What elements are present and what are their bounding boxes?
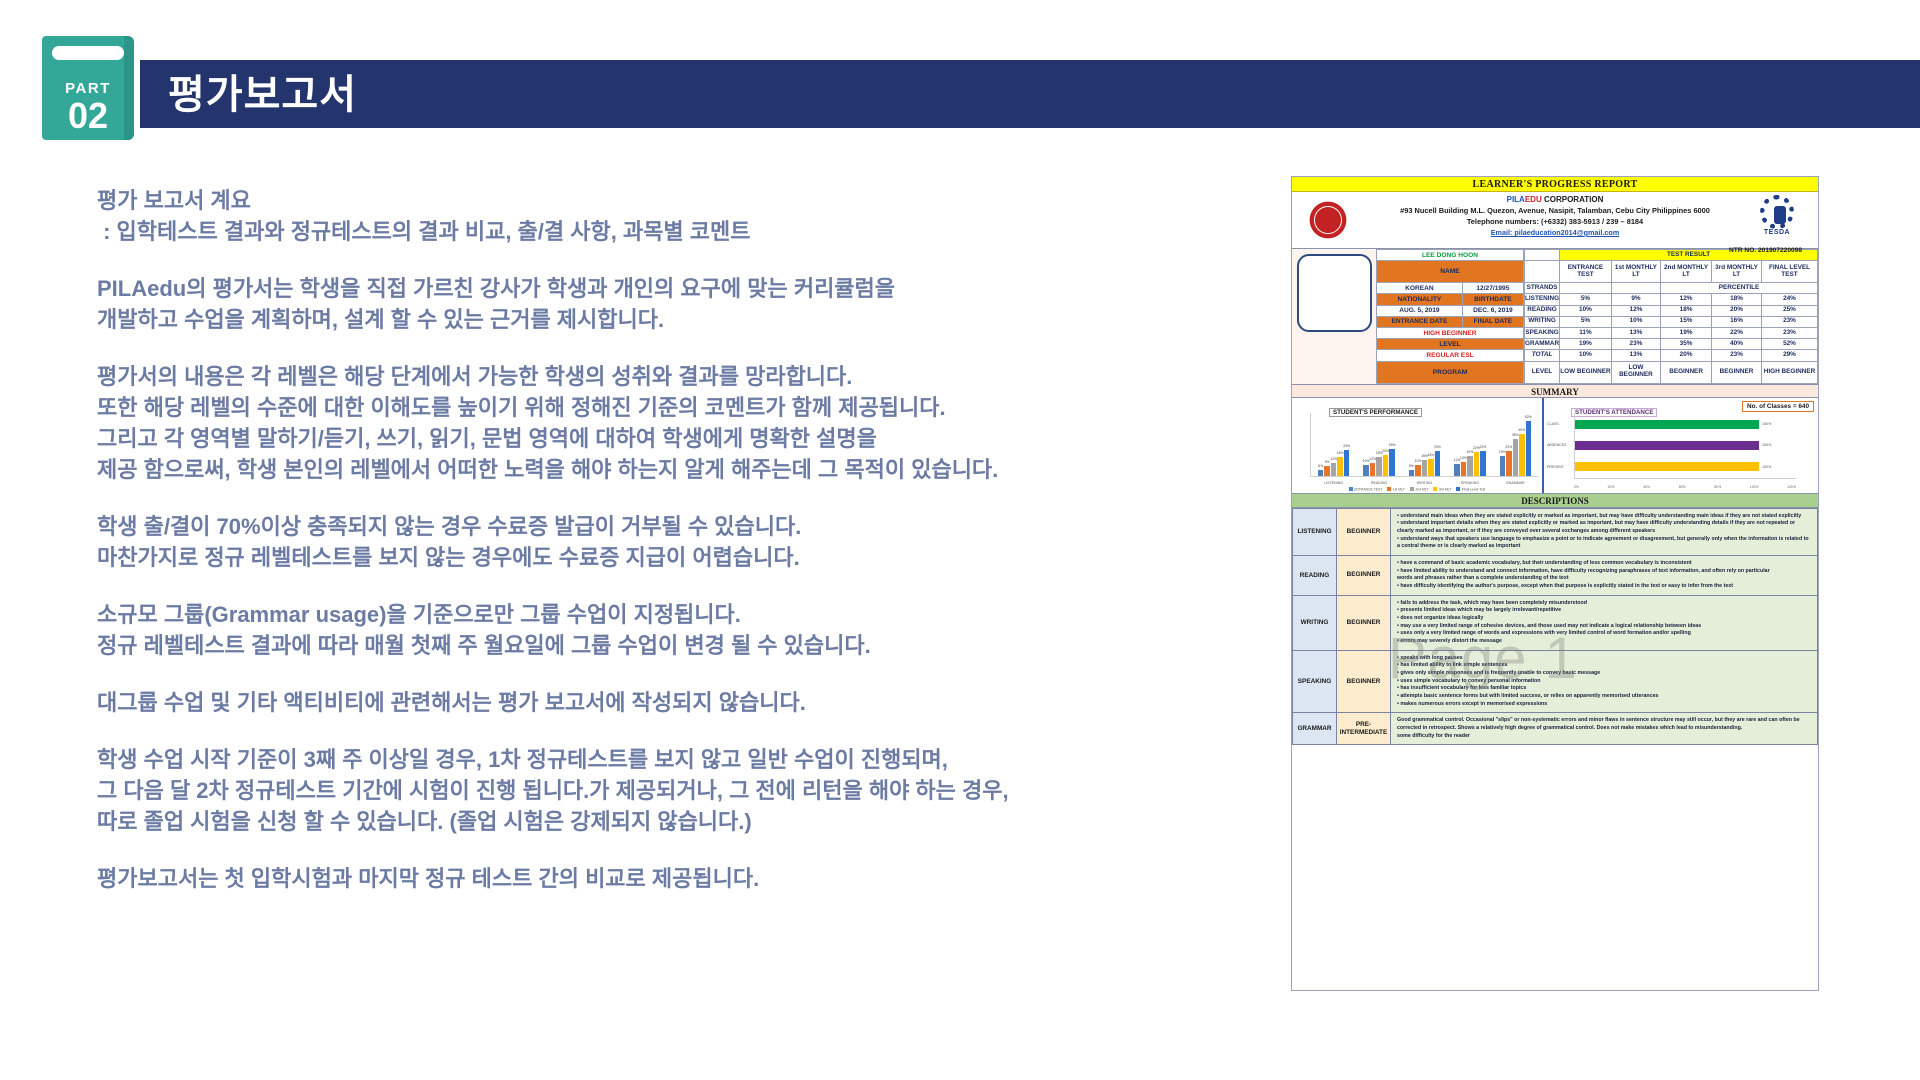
paragraph: 평가보고서는 첫 입학시험과 마지막 정규 테스트 간의 비교로 제공됩니다.: [97, 863, 1257, 894]
test-column-header: 2nd MONTHLY LT: [1661, 261, 1712, 283]
description-line: • errors may severely distort the messag…: [1397, 638, 1811, 646]
legend-swatch: [1387, 487, 1391, 491]
bar-group: 5%9%12%18%24%LISTENING: [1318, 413, 1350, 476]
score-cell: 18%: [1661, 305, 1712, 316]
description-row: LISTENINGBEGINNER• understand main ideas…: [1293, 508, 1818, 555]
score-cell: 20%: [1712, 305, 1762, 316]
score-cell: 10%: [1611, 316, 1660, 327]
score-cell: 13%: [1611, 350, 1660, 361]
table-row: ENTRANCE TEST1st MONTHLY LT2nd MONTHLY L…: [1525, 261, 1818, 283]
description-line: • does not organize ideas logically: [1397, 615, 1811, 623]
description-level: BEGINNER: [1337, 595, 1391, 650]
axis-tick: 40%: [1643, 485, 1650, 489]
tesda-label: TESDA: [1752, 229, 1802, 236]
legend-swatch: [1410, 487, 1414, 491]
score-cell: 23%: [1761, 316, 1817, 327]
info-cell: NAME: [1377, 261, 1524, 283]
score-cell: 23%: [1761, 327, 1817, 338]
summary-charts: STUDENT'S PERFORMANCE 5%9%12%18%24%LISTE…: [1292, 398, 1818, 494]
table-row: STRANDSPERCENTILE: [1525, 283, 1818, 294]
description-skill: WRITING: [1293, 595, 1337, 650]
attendance-row: ABSENCES100%: [1575, 441, 1796, 450]
score-cell: 11%: [1560, 327, 1612, 338]
paragraph-line: 소규모 그룹(Grammar usage)을 기준으로만 그룹 수업이 지정됩니…: [97, 599, 1257, 630]
strand-label: LISTENING: [1525, 294, 1560, 305]
score-cell: 40%: [1712, 339, 1762, 350]
paragraph-line: 또한 해당 레벨의 수준에 대한 이해도를 높이기 위해 정해진 기준의 코멘트…: [97, 392, 1257, 423]
info-cell: FINAL DATE: [1462, 316, 1523, 327]
table-row: REGULAR ESL: [1377, 350, 1524, 361]
chart-bar: 9%: [1324, 466, 1330, 475]
report-info-section: LEE DONG HOONNAMEKOREAN12/27/1995NATIONA…: [1292, 248, 1818, 384]
description-line: Good grammatical control. Occasional "sl…: [1397, 717, 1811, 732]
description-skill: LISTENING: [1293, 508, 1337, 555]
bar-group-label: WRITING: [1417, 481, 1433, 485]
corp-email[interactable]: Email: pilaeducation2014@gmail.com: [1292, 228, 1818, 237]
report-title: LEARNER'S PROGRESS REPORT: [1292, 177, 1818, 192]
student-photo-placeholder: [1297, 254, 1372, 332]
table-row: HIGH BEGINNER: [1377, 327, 1524, 338]
test-column-header: ENTRANCE TEST: [1560, 261, 1612, 283]
paragraph-line: : 입학테스트 결과와 정규테스트의 결과 비교, 출/결 사항, 과목별 코멘…: [97, 216, 1257, 247]
attendance-category-label: ABSENCES: [1547, 443, 1567, 447]
paragraph: 대그룹 수업 및 기타 액티비티에 관련해서는 평가 보고서에 작성되지 않습니…: [97, 687, 1257, 718]
score-cell: 25%: [1761, 305, 1817, 316]
description-line: • presents limited ideas which may be la…: [1397, 607, 1811, 615]
info-cell: HIGH BEGINNER: [1377, 327, 1524, 338]
body-copy: 평가 보고서 계요 : 입학테스트 결과와 정규테스트의 결과 비교, 출/결 …: [97, 185, 1257, 920]
chart-bar: 18%: [1376, 457, 1382, 476]
legend-swatch: [1456, 487, 1460, 491]
attendance-bar: [1575, 462, 1759, 471]
legend-item: 2nd MLT: [1410, 487, 1429, 492]
info-cell: KOREAN: [1377, 283, 1463, 294]
attendance-bar: [1575, 420, 1759, 429]
description-line: some difficulty for the reader: [1397, 733, 1811, 741]
info-cell: PROGRAM: [1377, 361, 1524, 383]
description-line: • understand main ideas when they are st…: [1397, 513, 1811, 521]
chart-bar: 35%: [1513, 439, 1519, 476]
score-cell: 10%: [1560, 305, 1612, 316]
description-body: • speaks with long pauses• has limited a…: [1391, 650, 1818, 713]
strand-label: WRITING: [1525, 316, 1560, 327]
level-cell: HIGH BEGINNER: [1761, 361, 1817, 383]
description-row: GRAMMARPRE-INTERMEDIATEGood grammatical …: [1293, 713, 1818, 745]
score-cell: 12%: [1611, 305, 1660, 316]
chart-bar: 20%: [1383, 455, 1389, 476]
chart-bar: 10%: [1415, 465, 1421, 476]
chart-bar: 23%: [1435, 451, 1441, 475]
chart-bar: 19%: [1467, 456, 1473, 476]
legend-item: 1st MLT: [1387, 487, 1405, 492]
score-cell: 5%: [1560, 294, 1612, 305]
slide-root: PART 02 평가보고서 평가 보고서 계요 : 입학테스트 결과와 정규테스…: [0, 0, 1920, 1080]
blank-cell: [1611, 283, 1660, 294]
table-row: LEVEL: [1377, 339, 1524, 350]
table-row: LISTENING5%9%12%18%24%: [1525, 294, 1818, 305]
description-line: • understand important details when they…: [1397, 520, 1811, 535]
attendance-value-label: 100%: [1762, 465, 1771, 469]
score-cell: 10%: [1560, 350, 1612, 361]
description-skill: READING: [1293, 555, 1337, 595]
legend-swatch: [1433, 487, 1437, 491]
corp-telephone: Telephone numbers: (+6332) 383-5913 / 23…: [1292, 217, 1818, 226]
paragraph-line: 그 다음 달 2차 정규테스트 기간에 시험이 진행 됩니다.가 제공되거나, …: [97, 775, 1257, 806]
bar-group: 19%23%35%40%52%GRAMMAR: [1500, 413, 1532, 476]
info-cell: DEC. 6, 2019: [1462, 305, 1523, 316]
axis-tick: 80%: [1714, 485, 1721, 489]
photo-box: [1292, 249, 1376, 384]
bar-group-label: SPEAKING: [1461, 481, 1479, 485]
test-column-header: 1st MONTHLY LT: [1611, 261, 1660, 283]
score-cell: 24%: [1761, 294, 1817, 305]
paragraph: 소규모 그룹(Grammar usage)을 기준으로만 그룹 수업이 지정됩니…: [97, 599, 1257, 661]
description-level: PRE-INTERMEDIATE: [1337, 713, 1391, 745]
bar-group-label: LISTENING: [1324, 481, 1343, 485]
description-line: • uses only a very limited range of word…: [1397, 630, 1811, 638]
chart-bar: 13%: [1461, 462, 1467, 476]
attendance-plot-area: CLASS100%ABSENCES100%PRESENT100%: [1574, 414, 1796, 479]
score-cell: 19%: [1560, 339, 1612, 350]
performance-chart: STUDENT'S PERFORMANCE 5%9%12%18%24%LISTE…: [1292, 398, 1544, 493]
attendance-category-label: PRESENT: [1547, 465, 1564, 469]
chart-bar: 12%: [1370, 463, 1376, 476]
description-line: • makes numerous errors except in memori…: [1397, 701, 1811, 709]
chart-bar: 19%: [1500, 456, 1506, 476]
score-cell: 52%: [1761, 339, 1817, 350]
table-row: TOTAL10%13%20%23%29%: [1525, 350, 1818, 361]
bar-group: 5%10%15%16%23%WRITING: [1409, 413, 1441, 476]
attendance-value-label: 100%: [1762, 422, 1771, 426]
chart-bar: 5%: [1318, 470, 1324, 475]
spacer-cell: [1525, 250, 1560, 261]
chart-bar: 25%: [1389, 449, 1395, 475]
paragraph-line: 학생 출/결이 70%이상 충족되지 않는 경우 수료증 발급이 거부될 수 있…: [97, 511, 1257, 542]
bar-group: 10%12%18%20%25%READING: [1363, 413, 1395, 476]
legend-item: 3rd MLT: [1433, 487, 1451, 492]
score-cell: 15%: [1661, 316, 1712, 327]
summary-header: SUMMARY: [1292, 384, 1818, 398]
info-cell: AUG. 5, 2019: [1377, 305, 1463, 316]
description-line: • have difficulty identifying the author…: [1397, 583, 1811, 591]
attendance-bar: [1575, 441, 1759, 450]
table-row: ENTRANCE DATEFINAL DATE: [1377, 316, 1524, 327]
classes-count-badge: No. of Classes = 640: [1742, 401, 1814, 412]
description-row: READINGBEGINNER• have a command of basic…: [1293, 555, 1818, 595]
legend-item: ENTRANCE TEST: [1349, 487, 1383, 492]
axis-tick: 100%: [1750, 485, 1759, 489]
chart-bar: 23%: [1506, 451, 1512, 475]
attendance-row: CLASS100%: [1575, 420, 1796, 429]
paragraph-line: 평가보고서는 첫 입학시험과 마지막 정규 테스트 간의 비교로 제공됩니다.: [97, 863, 1257, 894]
attendance-chart: STUDENT'S ATTENDANCE No. of Classes = 64…: [1544, 398, 1818, 493]
performance-legend: ENTRANCE TEST1st MLT2nd MLT3rd MLTFinal …: [1292, 487, 1542, 492]
info-cell: REGULAR ESL: [1377, 350, 1524, 361]
paragraph-line: 따로 졸업 시험을 신청 할 수 있습니다. (졸업 시험은 강제되지 않습니다…: [97, 806, 1257, 837]
strand-label: READING: [1525, 305, 1560, 316]
table-row: SPEAKING11%13%19%22%23%: [1525, 327, 1818, 338]
chart-bar: 22%: [1474, 452, 1480, 475]
score-cell: 19%: [1661, 327, 1712, 338]
score-cell: 22%: [1712, 327, 1762, 338]
attendance-category-label: CLASS: [1547, 422, 1559, 426]
page-title: 평가보고서: [168, 72, 357, 118]
paragraph-line: 정규 레벨테스트 결과에 따라 매월 첫째 주 월요일에 그룹 수업이 변경 될…: [97, 630, 1257, 661]
learners-progress-report: LEARNER'S PROGRESS REPORT TESDA PILAEDU …: [1291, 176, 1819, 991]
performance-plot-area: 5%9%12%18%24%LISTENING10%12%18%20%25%REA…: [1310, 413, 1538, 477]
description-row: WRITINGBEGINNER• fails to address the ta…: [1293, 595, 1818, 650]
description-skill: SPEAKING: [1293, 650, 1337, 713]
bar-group-label: READING: [1371, 481, 1387, 485]
info-cell: NATIONALITY: [1377, 294, 1463, 305]
tesda-logo-icon: TESDA: [1752, 195, 1802, 239]
table-row: KOREAN12/27/1995: [1377, 283, 1524, 294]
table-row: READING10%12%18%20%25%: [1525, 305, 1818, 316]
legend-swatch: [1349, 487, 1353, 491]
blank-cell: [1560, 283, 1612, 294]
score-cell: 18%: [1712, 294, 1762, 305]
test-column-header: 3rd MONTHLY LT: [1712, 261, 1762, 283]
description-line: • fails to address the task, which may h…: [1397, 600, 1811, 608]
descriptions-header: DESCRIPTIONS: [1292, 494, 1818, 508]
description-line: • has insufficient vocabulary for less f…: [1397, 685, 1811, 693]
paragraph: 학생 출/결이 70%이상 충족되지 않는 경우 수료증 발급이 거부될 수 있…: [97, 511, 1257, 573]
chart-bar: 24%: [1344, 450, 1350, 475]
axis-tick: 20%: [1608, 485, 1615, 489]
axis-tick: 0%: [1574, 485, 1579, 489]
description-body: • fails to address the task, which may h…: [1391, 595, 1818, 650]
paragraph: 평가서의 내용은 각 레벨은 해당 단계에서 가능한 학생의 성취와 결과를 망…: [97, 361, 1257, 485]
description-line: • attempts basic sentence forms but with…: [1397, 693, 1811, 701]
paragraph-line: 마찬가지로 정규 레벨테스트를 보지 않는 경우에도 수료증 지급이 어렵습니다…: [97, 542, 1257, 573]
spacer-cell: [1525, 261, 1560, 283]
description-line: • have limited ability to understand and…: [1397, 568, 1811, 576]
info-cell: ENTRANCE DATE: [1377, 316, 1463, 327]
paragraph-line: 학생 수업 시작 기준이 3째 주 이상일 경우, 1차 정규테스트를 보지 않…: [97, 744, 1257, 775]
paragraph-line: PILAedu의 평가서는 학생을 직접 가르친 강사가 학생과 개인의 요구에…: [97, 273, 1257, 304]
chart-bar: 5%: [1409, 470, 1415, 475]
score-cell: 23%: [1712, 350, 1762, 361]
description-line: • has limited ability to link simple sen…: [1397, 662, 1811, 670]
bar-group-label: GRAMMAR: [1506, 481, 1525, 485]
description-body: Good grammatical control. Occasional "sl…: [1391, 713, 1818, 745]
score-cell: 12%: [1661, 294, 1712, 305]
chart-bar: 11%: [1454, 464, 1460, 476]
table-row: AUG. 5, 2019DEC. 6, 2019: [1377, 305, 1524, 316]
level-row-label: LEVEL: [1525, 361, 1560, 383]
chart-bar: 40%: [1519, 434, 1525, 476]
legend-item: Final Level Test: [1456, 487, 1485, 492]
attendance-value-label: 100%: [1762, 443, 1771, 447]
strand-label: SPEAKING: [1525, 327, 1560, 338]
table-row: WRITING5%10%15%16%23%: [1525, 316, 1818, 327]
description-body: • understand main ideas when they are st…: [1391, 508, 1818, 555]
score-cell: 20%: [1661, 350, 1712, 361]
description-line: words and phrases rather than a complete…: [1397, 575, 1811, 583]
description-body: • have a command of basic academic vocab…: [1391, 555, 1818, 595]
paragraph-line: 개발하고 수업을 계획하며, 설계 할 수 있는 근거를 제시합니다.: [97, 304, 1257, 335]
level-cell: BEGINNER: [1712, 361, 1762, 383]
chart-bar: 10%: [1363, 465, 1369, 476]
attendance-row: PRESENT100%: [1575, 462, 1796, 471]
chart-bar: 18%: [1337, 457, 1343, 476]
score-cell: 35%: [1661, 339, 1712, 350]
level-cell: BEGINNER: [1661, 361, 1712, 383]
paragraph-line: 평가 보고서 계요: [97, 185, 1257, 216]
score-cell: 5%: [1560, 316, 1612, 327]
level-cell: LOW BEGINNER: [1611, 361, 1660, 383]
description-line: • speaks with long pauses: [1397, 655, 1811, 663]
ntr-number: NTR NO. 201907220098: [1729, 247, 1802, 254]
part-badge-book-icon: PART 02: [42, 36, 134, 140]
table-row: PROGRAM: [1377, 361, 1524, 383]
table-row: LEVELLOW BEGINNERLOW BEGINNERBEGINNERBEG…: [1525, 361, 1818, 383]
test-column-header: FINAL LEVEL TEST: [1761, 261, 1817, 283]
report-letterhead: TESDA PILAEDU CORPORATION #93 Nucell Bui…: [1292, 192, 1818, 248]
corp-address: #93 Nucell Building M.L. Quezon, Avenue,…: [1292, 206, 1818, 215]
info-cell: LEVEL: [1377, 339, 1524, 350]
paragraph-line: 평가서의 내용은 각 레벨은 해당 단계에서 가능한 학생의 성취와 결과를 망…: [97, 361, 1257, 392]
chart-bar: 15%: [1422, 460, 1428, 476]
part-number: 02: [42, 96, 134, 136]
score-cell: 23%: [1611, 339, 1660, 350]
paragraph-line: 대그룹 수업 및 기타 액티비티에 관련해서는 평가 보고서에 작성되지 않습니…: [97, 687, 1257, 718]
description-level: BEGINNER: [1337, 508, 1391, 555]
score-cell: 9%: [1611, 294, 1660, 305]
description-line: • gives only simple responses and is fre…: [1397, 670, 1811, 678]
chart-bar: 12%: [1331, 463, 1337, 476]
attendance-x-axis: 0%20%40%60%80%100%120%: [1574, 485, 1796, 489]
table-row: LEE DONG HOON: [1377, 250, 1524, 261]
header-bar: [140, 60, 1920, 128]
corp-name: PILAEDU CORPORATION: [1292, 195, 1818, 204]
percentile-header: PERCENTILE: [1661, 283, 1818, 294]
table-row: NATIONALITYBIRTHDATE: [1377, 294, 1524, 305]
chart-bar: 52%: [1526, 421, 1532, 476]
score-cell: 16%: [1712, 316, 1762, 327]
info-cell: BIRTHDATE: [1462, 294, 1523, 305]
test-result-table: TEST RESULTENTRANCE TEST1st MONTHLY LT2n…: [1524, 249, 1818, 384]
description-skill: GRAMMAR: [1293, 713, 1337, 745]
strand-label: GRAMMAR: [1525, 339, 1560, 350]
level-cell: LOW BEGINNER: [1560, 361, 1612, 383]
strands-header: STRANDS: [1525, 283, 1560, 294]
table-row: GRAMMAR19%23%35%40%52%: [1525, 339, 1818, 350]
description-level: BEGINNER: [1337, 555, 1391, 595]
score-cell: 13%: [1611, 327, 1660, 338]
description-line: • have a command of basic academic vocab…: [1397, 560, 1811, 568]
description-row: SPEAKINGBEGINNER• speaks with long pause…: [1293, 650, 1818, 713]
strand-label: TOTAL: [1525, 350, 1560, 361]
paragraph-line: 그리고 각 영역별 말하기/듣기, 쓰기, 읽기, 문법 영역에 대하여 학생에…: [97, 423, 1257, 454]
table-row: NAME: [1377, 261, 1524, 283]
paragraph: PILAedu의 평가서는 학생을 직접 가르친 강사가 학생과 개인의 요구에…: [97, 273, 1257, 335]
axis-tick: 120%: [1787, 485, 1796, 489]
description-level: BEGINNER: [1337, 650, 1391, 713]
pilaedu-seal-icon: [1306, 198, 1350, 242]
bar-group: 11%13%19%22%23%SPEAKING: [1454, 413, 1486, 476]
description-line: • uses simple vocabulary to convey perso…: [1397, 678, 1811, 686]
descriptions-table: LISTENINGBEGINNER• understand main ideas…: [1292, 508, 1818, 746]
info-cell: 12/27/1995: [1462, 283, 1523, 294]
student-name-cell: LEE DONG HOON: [1377, 250, 1524, 261]
axis-tick: 60%: [1679, 485, 1686, 489]
student-info-table: LEE DONG HOONNAMEKOREAN12/27/1995NATIONA…: [1376, 249, 1524, 384]
score-cell: 29%: [1761, 350, 1817, 361]
paragraph: 평가 보고서 계요 : 입학테스트 결과와 정규테스트의 결과 비교, 출/결 …: [97, 185, 1257, 247]
description-line: • understand ways that speakers use lang…: [1397, 536, 1811, 551]
chart-bar: 23%: [1480, 451, 1486, 475]
paragraph-line: 제공 함으로써, 학생 본인의 레벨에서 어떠한 노력을 해야 하는지 알게 해…: [97, 454, 1257, 485]
paragraph: 학생 수업 시작 기준이 3째 주 이상일 경우, 1차 정규테스트를 보지 않…: [97, 744, 1257, 837]
description-line: • may use a very limited range of cohesi…: [1397, 623, 1811, 631]
chart-bar: 16%: [1428, 459, 1434, 476]
